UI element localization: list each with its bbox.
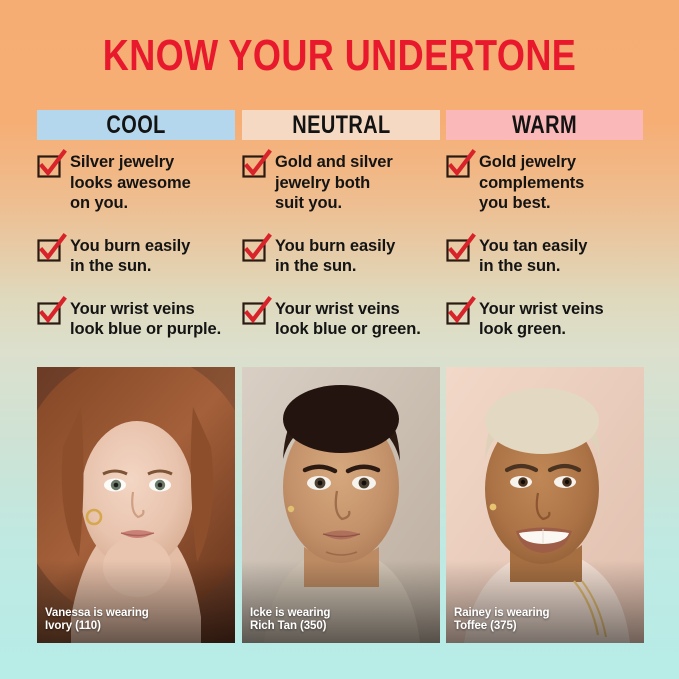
item-line: suit you. (275, 193, 393, 214)
checkbox-checked-icon (242, 238, 268, 262)
checkbox-checked-icon (446, 301, 472, 325)
item-line: look blue or green. (275, 319, 421, 340)
model-photo-neutral: Icke is wearing Rich Tan (350) (242, 367, 440, 643)
model-portrait-icke (242, 367, 440, 643)
checklist-item-text: Gold and silver jewelry both suit you. (275, 152, 393, 214)
model-photo-warm: Rainey is wearing Toffee (375) (446, 367, 644, 643)
infographic-page: KNOW YOUR UNDERTONE COOL NEUTRAL WARM Si… (0, 0, 679, 679)
item-line: complements (479, 173, 584, 194)
model-portrait-rainey (446, 367, 644, 643)
caption-line: Rainey is wearing (454, 607, 549, 620)
checklist-item-text: Silver jewelry looks awesome on you. (70, 152, 191, 214)
item-line: in the sun. (275, 256, 395, 277)
item-line: Gold and silver (275, 152, 393, 173)
checklist-item: Your wrist veins look blue or green. (242, 299, 452, 340)
caption-line: Rich Tan (350) (250, 620, 330, 633)
item-line: You burn easily (275, 236, 395, 257)
checkbox-checked-icon (37, 301, 63, 325)
item-line: look green. (479, 319, 604, 340)
item-line: Your wrist veins (70, 299, 221, 320)
item-line: Your wrist veins (275, 299, 421, 320)
checklist-column-warm: Gold jewelry complements you best. You t… (446, 152, 656, 362)
column-header-warm: WARM (446, 110, 643, 140)
caption-line: Ivory (110) (45, 620, 149, 633)
caption-line: Toffee (375) (454, 620, 549, 633)
checklist-item: Your wrist veins look green. (446, 299, 656, 340)
checkbox-checked-icon (37, 154, 63, 178)
checklist-item-text: Your wrist veins look blue or green. (275, 299, 421, 340)
item-line: You tan easily (479, 236, 587, 257)
photo-caption-warm: Rainey is wearing Toffee (375) (454, 607, 549, 632)
column-header-cool: COOL (37, 110, 235, 140)
item-line: Silver jewelry (70, 152, 191, 173)
item-line: in the sun. (479, 256, 587, 277)
item-line: look blue or purple. (70, 319, 221, 340)
checklist-item: Gold jewelry complements you best. (446, 152, 656, 214)
checklist-item-text: Gold jewelry complements you best. (479, 152, 584, 214)
caption-line: Icke is wearing (250, 607, 330, 620)
item-line: you best. (479, 193, 584, 214)
item-line: Your wrist veins (479, 299, 604, 320)
column-header-label-neutral: NEUTRAL (292, 111, 390, 140)
photo-caption-neutral: Icke is wearing Rich Tan (350) (250, 607, 330, 632)
checklist-column-cool: Silver jewelry looks awesome on you. You… (37, 152, 247, 362)
item-line: in the sun. (70, 256, 190, 277)
item-line: You burn easily (70, 236, 190, 257)
item-line: looks awesome (70, 173, 191, 194)
model-portrait-vanessa (37, 367, 235, 643)
checklist-item: Silver jewelry looks awesome on you. (37, 152, 247, 214)
checkbox-checked-icon (37, 238, 63, 262)
item-line: Gold jewelry (479, 152, 584, 173)
checklist-item: Your wrist veins look blue or purple. (37, 299, 247, 340)
checklist-item: Gold and silver jewelry both suit you. (242, 152, 452, 214)
column-header-neutral: NEUTRAL (242, 110, 440, 140)
caption-line: Vanessa is wearing (45, 607, 149, 620)
column-header-label-cool: COOL (106, 111, 165, 140)
checkbox-checked-icon (446, 238, 472, 262)
checkbox-checked-icon (242, 154, 268, 178)
item-line: jewelry both (275, 173, 393, 194)
checkbox-checked-icon (242, 301, 268, 325)
checklist-item: You burn easily in the sun. (37, 236, 247, 277)
column-header-label-warm: WARM (512, 111, 577, 140)
photo-caption-cool: Vanessa is wearing Ivory (110) (45, 607, 149, 632)
checklist-column-neutral: Gold and silver jewelry both suit you. Y… (242, 152, 452, 362)
checklist-item-text: You burn easily in the sun. (275, 236, 395, 277)
checklist-item: You burn easily in the sun. (242, 236, 452, 277)
page-title: KNOW YOUR UNDERTONE (61, 33, 618, 79)
checklist-item-text: Your wrist veins look blue or purple. (70, 299, 221, 340)
model-photo-cool: Vanessa is wearing Ivory (110) (37, 367, 235, 643)
item-line: on you. (70, 193, 191, 214)
checkbox-checked-icon (446, 154, 472, 178)
checklist-item-text: You tan easily in the sun. (479, 236, 587, 277)
checklist-item-text: Your wrist veins look green. (479, 299, 604, 340)
checklist-item: You tan easily in the sun. (446, 236, 656, 277)
checklist-item-text: You burn easily in the sun. (70, 236, 190, 277)
